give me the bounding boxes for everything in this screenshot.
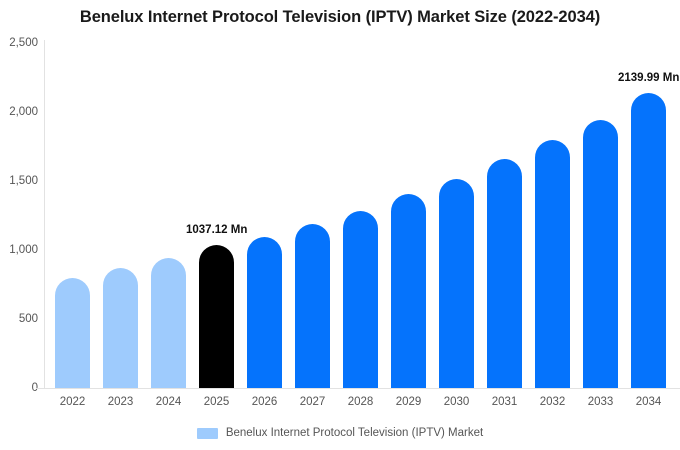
y-axis-tick-label: 2,000	[0, 106, 38, 118]
bar[interactable]	[199, 245, 234, 388]
x-axis-tick-label: 2029	[385, 396, 433, 408]
legend-label: Benelux Internet Protocol Television (IP…	[226, 427, 483, 439]
x-axis-tick-label: 2023	[97, 396, 145, 408]
x-axis-tick-label: 2022	[49, 396, 97, 408]
chart-container: Benelux Internet Protocol Television (IP…	[0, 0, 680, 450]
y-axis-tick-label: 0	[0, 382, 38, 394]
x-axis-tick-label: 2024	[145, 396, 193, 408]
y-axis-tick-label: 2,500	[0, 37, 38, 49]
x-axis-tick-label: 2031	[481, 396, 529, 408]
x-axis-tick-label: 2034	[625, 396, 673, 408]
bar[interactable]	[247, 237, 282, 388]
chart-legend: Benelux Internet Protocol Television (IP…	[0, 427, 680, 439]
x-axis-tick-label: 2030	[433, 396, 481, 408]
x-axis-tick-label: 2028	[337, 396, 385, 408]
bar-value-annotation: 2139.99 Mn	[618, 72, 679, 84]
bar[interactable]	[439, 179, 474, 388]
bar[interactable]	[583, 120, 618, 388]
bar[interactable]	[295, 224, 330, 388]
y-axis-tick-label: 500	[0, 313, 38, 325]
bar[interactable]	[391, 194, 426, 388]
y-axis: 05001,0001,5002,0002,500	[0, 0, 38, 450]
bar[interactable]	[631, 93, 666, 388]
x-axis-tick-label: 2025	[193, 396, 241, 408]
chart-title: Benelux Internet Protocol Television (IP…	[0, 8, 680, 27]
bar[interactable]	[487, 159, 522, 388]
x-axis-tick-label: 2033	[577, 396, 625, 408]
bar[interactable]	[103, 268, 138, 388]
y-axis-tick-label: 1,500	[0, 175, 38, 187]
legend-swatch	[197, 428, 218, 439]
bar-value-annotation: 1037.12 Mn	[186, 224, 247, 236]
bar[interactable]	[151, 258, 186, 388]
x-axis-tick-label: 2027	[289, 396, 337, 408]
x-axis-line	[36, 388, 680, 389]
bar[interactable]	[535, 140, 570, 388]
x-axis-tick-label: 2032	[529, 396, 577, 408]
x-axis-tick-label: 2026	[241, 396, 289, 408]
bar[interactable]	[55, 278, 90, 388]
plot-area	[44, 43, 680, 388]
y-axis-tick-label: 1,000	[0, 244, 38, 256]
bar[interactable]	[343, 211, 378, 388]
